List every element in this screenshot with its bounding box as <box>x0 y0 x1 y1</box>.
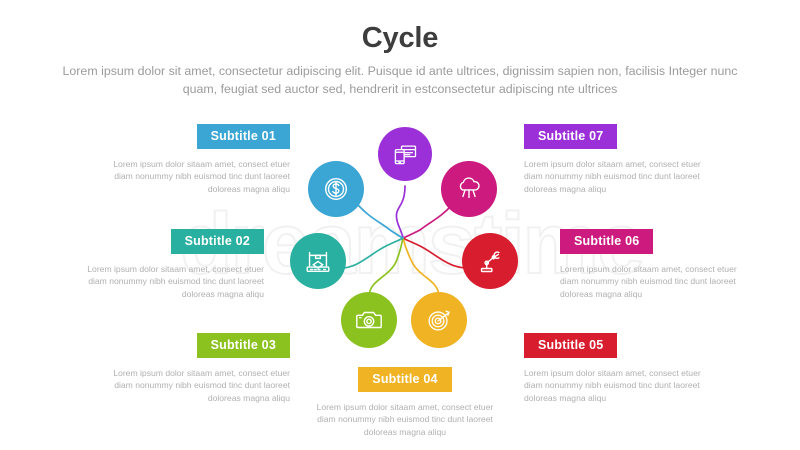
badge-02[interactable]: Subtitle 02 <box>171 229 264 254</box>
item-block-03: Subtitle 03 Lorem ipsum dolor sitaam ame… <box>112 333 290 404</box>
connector-02 <box>341 238 403 268</box>
description-04: Lorem ipsum dolor sitaam amet, consect e… <box>316 401 494 438</box>
connector-01 <box>358 205 403 238</box>
badge-05[interactable]: Subtitle 05 <box>524 333 617 358</box>
camera-icon <box>341 292 397 348</box>
description-01: Lorem ipsum dolor sitaam amet, consect e… <box>112 158 290 195</box>
item-block-07: Subtitle 07 Lorem ipsum dolor sitaam ame… <box>524 124 702 195</box>
3d-printer-icon <box>290 233 346 289</box>
cloud-icon <box>441 161 497 217</box>
description-06: Lorem ipsum dolor sitaam amet, consect e… <box>560 263 738 300</box>
badge-01[interactable]: Subtitle 01 <box>197 124 290 149</box>
node-circle-06[interactable] <box>441 161 497 217</box>
description-02: Lorem ipsum dolor sitaam amet, consect e… <box>86 263 264 300</box>
responsive-device-icon <box>378 127 432 181</box>
badge-06[interactable]: Subtitle 06 <box>560 229 653 254</box>
node-circle-07[interactable] <box>378 127 432 181</box>
node-circle-03[interactable] <box>341 292 397 348</box>
connector-07 <box>396 186 405 238</box>
node-circle-05[interactable] <box>462 233 518 289</box>
target-icon <box>411 292 467 348</box>
description-03: Lorem ipsum dolor sitaam amet, consect e… <box>112 367 290 404</box>
item-block-02: Subtitle 02 Lorem ipsum dolor sitaam ame… <box>86 229 264 300</box>
item-block-04: Subtitle 04 Lorem ipsum dolor sitaam ame… <box>310 367 500 438</box>
item-block-01: Subtitle 01 Lorem ipsum dolor sitaam ame… <box>112 124 290 195</box>
dollar-coin-icon <box>308 161 364 217</box>
robot-arm-icon <box>462 233 518 289</box>
node-circle-02[interactable] <box>290 233 346 289</box>
badge-07[interactable]: Subtitle 07 <box>524 124 617 149</box>
description-07: Lorem ipsum dolor sitaam amet, consect e… <box>524 158 702 195</box>
node-circle-01[interactable] <box>308 161 364 217</box>
infographic-canvas: Cycle Lorem ipsum dolor sit amet, consec… <box>0 0 800 450</box>
node-circle-04[interactable] <box>411 292 467 348</box>
badge-03[interactable]: Subtitle 03 <box>197 333 290 358</box>
badge-04[interactable]: Subtitle 04 <box>358 367 451 392</box>
description-05: Lorem ipsum dolor sitaam amet, consect e… <box>524 367 702 404</box>
item-block-06: Subtitle 06 Lorem ipsum dolor sitaam ame… <box>560 229 738 300</box>
item-block-05: Subtitle 05 Lorem ipsum dolor sitaam ame… <box>524 333 702 404</box>
